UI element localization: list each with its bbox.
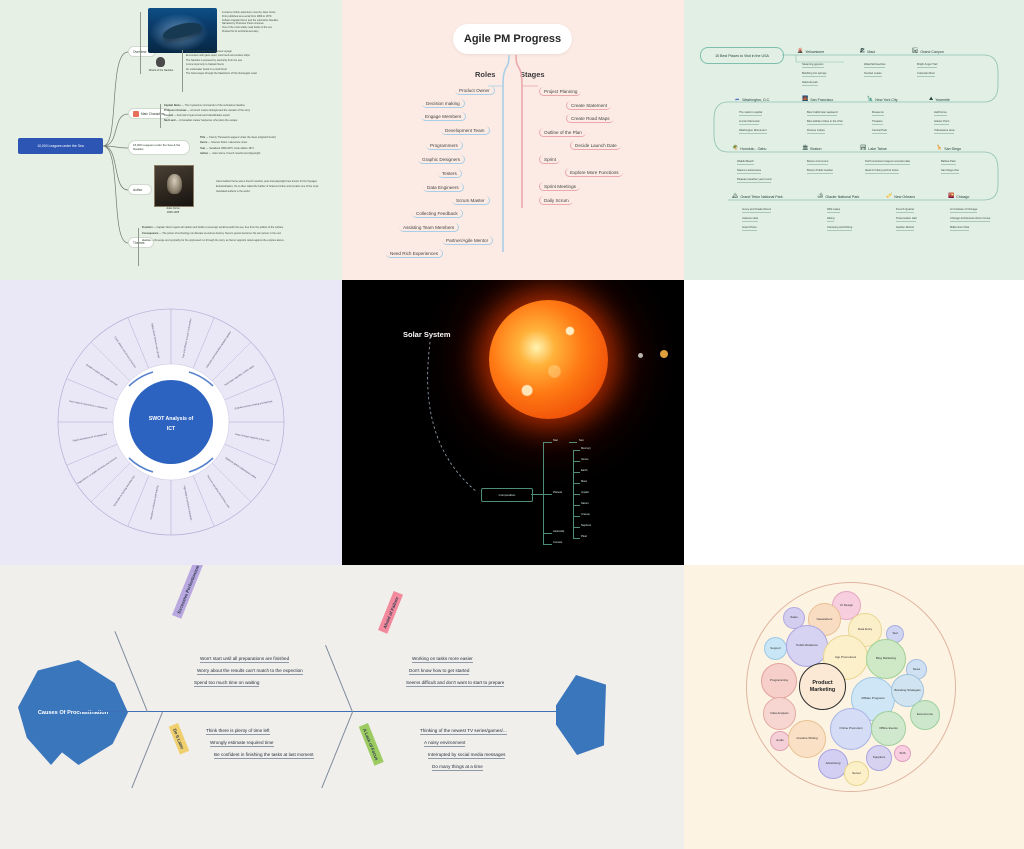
- usa-subitem: Pleasant weather year round: [737, 178, 771, 183]
- agile-node[interactable]: Decide Launch Date: [570, 141, 621, 150]
- agile-node[interactable]: Outline of the Plan: [539, 128, 586, 137]
- volcano-icon: 🌋: [797, 49, 803, 54]
- swot-segment-label: Supports global collaboration online: [224, 456, 257, 479]
- fishbone-item: Won't start until all preparations are f…: [200, 656, 289, 663]
- swot-wheel[interactable]: Fast and efficient access to information…: [0, 280, 342, 565]
- fishbone-head[interactable]: Causes Of Procrastination: [18, 660, 128, 765]
- usa-subitem: Wild Lakes: [827, 208, 840, 213]
- tree-mercury[interactable]: Mercury: [581, 447, 591, 450]
- usa-subitem: Washington Monument: [739, 129, 767, 134]
- composition-node[interactable]: Composition: [481, 488, 533, 502]
- agile-node[interactable]: Sprint Meetings: [539, 182, 580, 191]
- tree-neptune[interactable]: Neptune: [581, 524, 591, 527]
- usa-subitem: San Diego Zoo: [941, 169, 959, 174]
- usa-subitem: Preservation Hall: [896, 217, 916, 222]
- swot-segment-label: New markets opened by e-commerce: [69, 400, 108, 411]
- nautilus-caption: Wreck of the Nautilus: [146, 69, 176, 73]
- swot-segment[interactable]: [171, 309, 214, 368]
- tree-pluto[interactable]: Pluto: [581, 535, 587, 538]
- swot-segment[interactable]: [193, 318, 251, 381]
- fishbone-item: Be confident in finishing the tasks at l…: [214, 752, 314, 759]
- panel-fishbone-procrastination[interactable]: Causes Of Procrastination Excessive Perf…: [0, 565, 684, 849]
- fishbone-item: Worry about the results can't match to t…: [197, 668, 303, 675]
- bubble-center-product-marketing[interactable]: Product Marketing: [799, 663, 846, 710]
- usa-subitem: Glacier Point: [934, 120, 949, 125]
- bubble-public-relations[interactable]: Public Relations: [786, 625, 828, 667]
- panel-agile-pm-progress[interactable]: Agile PM Progress Roles Stages Product O…: [342, 0, 684, 280]
- swot-segment-label: Improves communication between people: [205, 331, 232, 369]
- swot-segment-label: Cyber attacks and privacy breaches: [113, 336, 137, 369]
- swot-segment-label: Enables remote working and learning: [234, 400, 273, 411]
- swot-segment[interactable]: [91, 318, 149, 381]
- swot-center-line2: ICT: [167, 426, 176, 432]
- swot-segment-label: Requires continuous staff training: [150, 485, 160, 520]
- bubble-creative-writing[interactable]: Creative Writing: [788, 720, 826, 758]
- usa-subitem: Central Park: [872, 129, 887, 134]
- mountain-icon: ⛰: [929, 97, 933, 102]
- agile-node[interactable]: Graphic Designers: [418, 155, 465, 164]
- nautilus-photo: [148, 8, 217, 53]
- agile-node[interactable]: Partner/Agile Mentor: [442, 236, 493, 245]
- solar-dashed-connector: [342, 280, 684, 565]
- themes-list: Freedom — Captain Nemo rejects all natio…: [142, 226, 324, 243]
- fishbone-category-failure[interactable]: Afraid of Failure: [378, 591, 403, 633]
- tree-comets[interactable]: Comets: [553, 541, 562, 544]
- tree-star[interactable]: Star: [553, 439, 558, 442]
- usa-subitem: Theaters: [872, 120, 883, 125]
- usa-topic[interactable]: 🎺New Orleans: [886, 194, 915, 199]
- titanic-branch-facts[interactable]: 15,000 Leagues under the Sea & the Nauti…: [128, 140, 190, 155]
- agile-node[interactable]: Daily Scrum: [539, 196, 573, 205]
- characters-list: Captain Nemo — The mysterious commander …: [164, 103, 324, 123]
- tree-uranus[interactable]: Uranus: [581, 513, 590, 516]
- fishbone-item: Thinking of the newest TV series/games/.…: [420, 728, 507, 735]
- swot-segment-label: Automates repetitive routine tasks: [224, 364, 256, 386]
- usa-subitem: Steaming geysers: [802, 63, 824, 68]
- palm-icon: 🌴: [732, 146, 738, 151]
- usa-subitem: Millennium Park: [950, 226, 969, 231]
- bubble-ecommerce[interactable]: Ecommerce: [910, 700, 940, 730]
- swot-segment[interactable]: [171, 476, 214, 535]
- tree-planets[interactable]: Planets: [553, 491, 562, 494]
- glacier-icon: 🏕: [817, 194, 823, 199]
- bubble-sns[interactable]: SNS: [894, 745, 911, 762]
- branch-label: 15,000 Leagues under the Sea & the Nauti…: [133, 144, 185, 152]
- bubble-audio[interactable]: Audio: [770, 731, 790, 751]
- panel-best-places-usa[interactable]: 15 Best Places to Visit in the USA 🌋Yell…: [684, 0, 1024, 280]
- fishbone-category-perfectionism[interactable]: Excessive Perfectionism: [172, 565, 204, 619]
- usa-subitem: Half Dome: [934, 111, 947, 116]
- usa-subitem: The nation's capital: [739, 111, 762, 116]
- facts-list: Title — Twenty Thousand Leagues Under th…: [200, 135, 328, 156]
- usa-subitem: Garden District: [896, 226, 914, 231]
- swot-segment-label: Dependence on stable electricity and net…: [77, 456, 118, 485]
- swot-segment-label: Large storage capacity at low cost: [235, 433, 270, 443]
- panel-solar-system[interactable]: Solar System Composition Star Sun Planet…: [342, 280, 684, 565]
- fishbone-item: Don't know how to get started: [409, 668, 469, 675]
- overview-list: A science fiction adventure novel by Jul…: [222, 11, 324, 34]
- usa-subitem: Bright Angel Trail: [917, 63, 937, 68]
- usa-subitem: French Quarter: [896, 208, 914, 213]
- bubble-center-label: Product Marketing: [801, 680, 844, 692]
- usa-topic[interactable]: 🏔Grand Teton National Park: [732, 194, 783, 199]
- swot-segment[interactable]: [225, 422, 284, 465]
- usa-subitem: Nature's adventures: [737, 169, 761, 174]
- swot-segment-label: Growth of cloud and mobile services: [85, 363, 119, 387]
- fishbone-item: Interrupted by social media messages: [428, 752, 505, 759]
- agile-node[interactable]: Create Road Maps: [566, 114, 614, 123]
- fishbone-item: Think there is plenty of time left: [206, 728, 270, 735]
- usa-subitem: Hiking: [827, 217, 834, 222]
- swot-segment-label: Digital divide between user groups: [150, 323, 160, 359]
- swot-segment[interactable]: [91, 463, 149, 526]
- agile-node[interactable]: Project Planning: [539, 87, 581, 96]
- usa-subitem: Diverse culture: [807, 129, 825, 134]
- swot-segment[interactable]: [67, 342, 130, 400]
- usa-subitem: Waikiki Beach: [737, 160, 754, 165]
- usa-topic[interactable]: ⛰Yosemite: [929, 97, 950, 102]
- swot-segment-label: Fast and efficient access to information: [182, 318, 193, 359]
- agile-node[interactable]: Development Team: [441, 126, 490, 135]
- zoo-icon: 🦒: [936, 146, 942, 151]
- people-icon: [133, 111, 139, 117]
- fishbone-item: Do many things at a time: [432, 764, 483, 771]
- city-icon: 🏛: [802, 146, 808, 151]
- usa-topic[interactable]: 🌋Yellowstone: [797, 49, 824, 54]
- swot-segment-label: Rapid obsolescence of equipment: [72, 433, 107, 443]
- agile-node[interactable]: Explore More Functions: [565, 168, 623, 177]
- jazz-icon: 🎺: [886, 194, 892, 199]
- usa-subitem: Chicago Architecture River Cruise: [950, 217, 990, 222]
- usa-subitem: Jenny and Snake Rivers: [742, 208, 771, 213]
- tree-mars[interactable]: Mars: [581, 480, 587, 483]
- agile-node[interactable]: Engage Members: [421, 112, 466, 121]
- bridge-icon: 🌉: [802, 97, 808, 102]
- agile-node[interactable]: Scrum Master: [452, 196, 490, 205]
- usa-topic[interactable]: 🌴Honolulu - Oahu: [732, 146, 766, 151]
- agile-node[interactable]: Programmers: [426, 141, 463, 150]
- usa-subitem: Boston Commons: [807, 160, 828, 165]
- usa-topic[interactable]: 🏜Grand Canyon: [912, 49, 944, 54]
- bubble-suppliers[interactable]: Suppliers: [866, 745, 892, 771]
- panel-titanic-mindmap[interactable]: 10,000 Leagues under the Sea Overview Ma…: [0, 0, 342, 280]
- usa-topic[interactable]: 🏕Glacier National Park: [817, 194, 859, 199]
- canyon-icon: 🏜: [912, 49, 918, 54]
- swot-segment[interactable]: [212, 342, 275, 400]
- usa-topic[interactable]: 🏖Maui: [859, 49, 875, 54]
- swot-center-line1: SWOT Analysis of: [149, 416, 194, 422]
- fishbone-item: Spend too much time on waiting: [194, 680, 259, 687]
- swot-segment[interactable]: [128, 309, 171, 368]
- usa-subitem: Ideal for hiking and its shore: [865, 169, 899, 174]
- bubble-programming[interactable]: Programming: [761, 663, 797, 699]
- swot-segment[interactable]: [193, 463, 251, 526]
- author-description: Jules Gabriel Verne was a French novelis…: [216, 180, 326, 194]
- swot-segment[interactable]: [212, 444, 275, 502]
- usa-subitem: Snorkel coasts: [864, 72, 882, 77]
- agile-node[interactable]: Assisting Team Members: [399, 223, 459, 232]
- usa-subitem: Art Institute of Chicago: [950, 208, 977, 213]
- bubble-server[interactable]: Server: [844, 761, 869, 786]
- skyline-icon: 🌇: [948, 194, 954, 199]
- fishbone-item: Seems difficult and don't want to start …: [406, 680, 504, 687]
- tree-asteroids[interactable]: Asteroids: [553, 530, 564, 533]
- skull-icon: [156, 57, 165, 67]
- swot-segment[interactable]: [58, 379, 117, 422]
- usa-subitem: Canoeing and fishing: [827, 226, 852, 231]
- usa-topic[interactable]: 🏛Boston: [802, 146, 822, 151]
- swot-segment[interactable]: [225, 379, 284, 422]
- swot-segment-label: High initial investment in hardware: [183, 485, 193, 521]
- swot-segment[interactable]: [67, 444, 130, 502]
- swot-segment[interactable]: [58, 422, 117, 465]
- agile-node[interactable]: Testers: [438, 169, 462, 178]
- tree-jupiter[interactable]: Jupiter: [581, 491, 589, 494]
- usa-subitem: Lincoln Memorial: [739, 120, 759, 125]
- fishbone-item: A noisy environment: [424, 740, 465, 747]
- agile-node[interactable]: Sprint: [539, 155, 560, 164]
- template-gallery-grid: 10,000 Leagues under the Sea Overview Ma…: [0, 0, 1024, 849]
- usa-topic[interactable]: 🌉San Francisco: [802, 97, 833, 102]
- agile-connectors: [342, 0, 684, 280]
- usa-subitem: Boston Public Garden: [807, 169, 833, 174]
- usa-topic[interactable]: 🌇Chicago: [948, 194, 969, 199]
- usa-subitem: Best Californian weekend: [807, 111, 837, 116]
- agile-node[interactable]: Need Rich Experiences: [386, 249, 443, 258]
- bubble-data-analysis[interactable]: Data Analysis: [763, 697, 796, 730]
- usa-topic[interactable]: 🦒San Diego: [936, 146, 961, 151]
- swot-core-circle[interactable]: [129, 380, 213, 464]
- usa-subitem: Bubbling hot springs: [802, 72, 826, 77]
- usa-subitem: Jackson Hole: [742, 217, 758, 222]
- usa-subitem: Balboa Park: [941, 160, 956, 165]
- usa-subitem: Museums: [872, 111, 884, 116]
- usa-subitem: Best Hidden Cities in the USA: [807, 120, 843, 125]
- bubble-support[interactable]: Support: [764, 637, 787, 660]
- statue-icon: 🗽: [867, 97, 873, 102]
- swot-segment-label: Vulnerable to hacking and data loss: [113, 474, 136, 507]
- author-portrait: [154, 165, 194, 207]
- beach-icon: 🏖: [859, 49, 865, 54]
- usa-subitem: North America's largest mountain lake: [865, 160, 910, 165]
- lake-icon: 🏞: [860, 146, 866, 151]
- fishbone-category-focus[interactable]: A Lack of Focus: [359, 723, 384, 765]
- tree-saturn[interactable]: Saturn: [581, 502, 589, 505]
- swot-segment-label: Reduces operating and printing costs: [206, 475, 230, 509]
- tree-sun[interactable]: Sun: [579, 439, 584, 442]
- author-caption: Jules Verne 1828-1905: [152, 207, 194, 214]
- fishbone-tail: [556, 675, 606, 755]
- panel-swot-analysis[interactable]: Fast and efficient access to information…: [0, 280, 342, 565]
- usa-subitem: Waterfall beaches: [864, 63, 885, 68]
- branch-label: Author: [133, 188, 142, 192]
- park-icon: 🏔: [732, 194, 738, 199]
- agile-node[interactable]: Decision making: [422, 99, 465, 108]
- usa-subitem: Colorado River: [917, 72, 935, 77]
- fishbone-item: Working on tasks more easier: [412, 656, 473, 663]
- bubble-blog-marketing[interactable]: Blog Marketing: [866, 639, 906, 679]
- usa-subitem: National park: [802, 81, 818, 86]
- agile-node[interactable]: Create Statement: [566, 101, 611, 110]
- tree-earth[interactable]: Earth: [581, 469, 587, 472]
- fishbone-category-later[interactable]: Do It Later: [169, 723, 189, 754]
- usa-subitem: Yellowstone area: [934, 129, 954, 134]
- usa-topic[interactable]: 🏞Lake Tahoe: [860, 146, 887, 151]
- usa-topic[interactable]: 🗽New York City: [867, 97, 898, 102]
- fishbone-spine: [80, 711, 560, 712]
- usa-topic[interactable]: 🗻Washington, D.C.: [734, 97, 770, 102]
- titanic-branch-author[interactable]: Author: [128, 184, 152, 195]
- panel-product-marketing[interactable]: UI Design Sales Newsletters Data Entry T…: [684, 565, 1024, 849]
- subtopic-list: A twenty-thousand mile undersea voyage E…: [186, 50, 322, 76]
- agile-node[interactable]: Collecting Feedback: [412, 209, 463, 218]
- fishbone-item: Wrongly estimate required time: [210, 740, 274, 747]
- agile-node[interactable]: Data Engineers: [423, 183, 464, 192]
- agile-node[interactable]: Product Owner: [455, 86, 495, 95]
- usa-connectors: [684, 0, 1024, 280]
- bubble-offline-events[interactable]: Offline Events: [871, 711, 906, 746]
- bubble-online-promotion[interactable]: Online Promotion: [830, 708, 872, 750]
- tree-venus[interactable]: Venus: [581, 458, 588, 461]
- swot-segment[interactable]: [128, 476, 171, 535]
- monument-icon: 🗻: [734, 97, 740, 102]
- usa-subitem: Grand Teton: [742, 226, 757, 231]
